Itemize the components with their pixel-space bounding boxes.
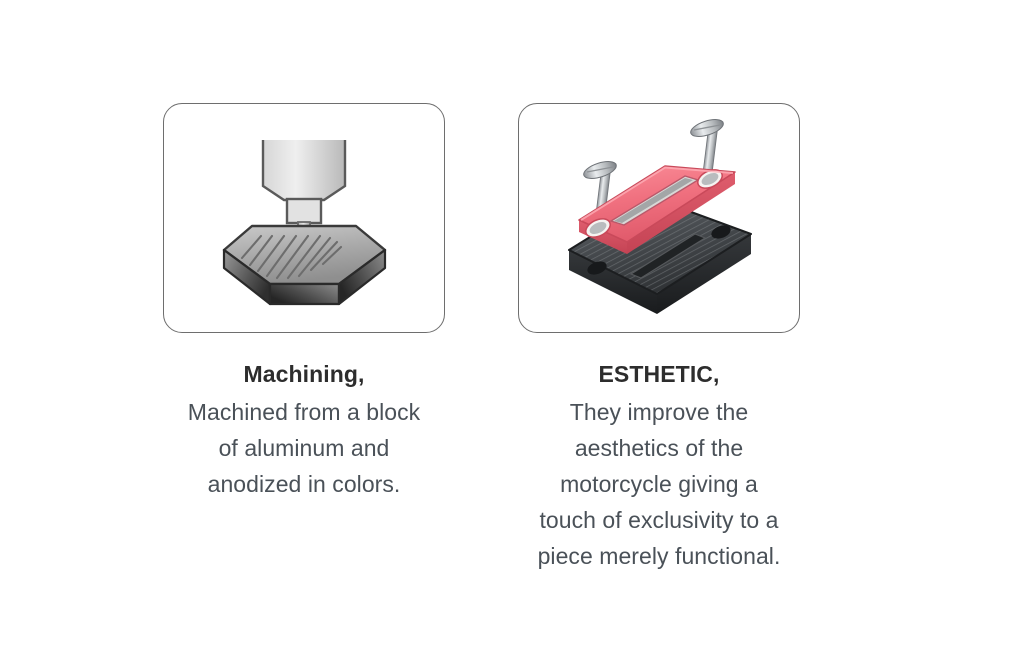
icon-frame-esthetic [518,103,800,333]
anodized-bracket-icon [535,108,783,328]
card-body: Machined from a block of aluminum and an… [154,394,454,502]
card-body-line: aesthetics of the [509,430,809,466]
card-text-machining: Machining, Machined from a block of alum… [154,357,454,502]
card-body-line: motorcycle giving a [509,466,809,502]
card-body-line: touch of exclusivity to a [509,502,809,538]
feature-card-grid: Machining, Machined from a block of alum… [0,0,1024,649]
card-body-line: Machined from a block [154,394,454,430]
card-body-line: piece merely functional. [509,538,809,574]
card-body-line: anodized in colors. [154,466,454,502]
spindle-housing [263,140,345,200]
card-body-line: They improve the [509,394,809,430]
feature-card-esthetic: ESTHETIC, They improve the aesthetics of… [517,103,801,574]
workpiece-front-face [270,284,339,304]
card-heading: Machining, [154,357,454,391]
card-heading: ESTHETIC, [509,357,809,391]
feature-card-machining: Machining, Machined from a block of alum… [162,103,446,502]
icon-frame-machining [163,103,445,333]
collet-holder [287,199,321,223]
card-body: They improve the aesthetics of the motor… [509,394,809,574]
card-text-esthetic: ESTHETIC, They improve the aesthetics of… [509,357,809,574]
cnc-machining-icon [189,118,419,318]
card-body-line: of aluminum and [154,430,454,466]
